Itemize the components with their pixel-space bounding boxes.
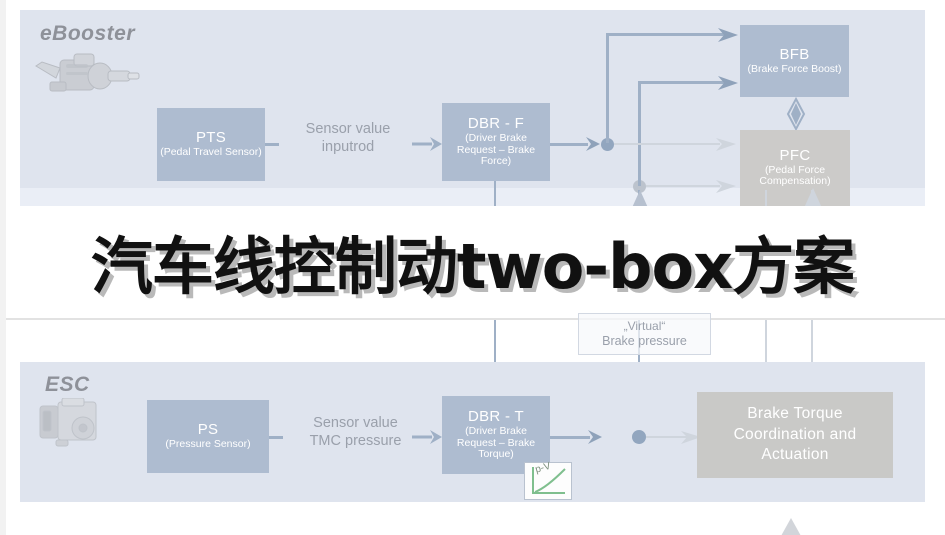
bidirectional-link-bfb-pfc: [786, 99, 806, 131]
slide-canvas: eBooster PTS (Pedal Travel Sensor): [0, 0, 945, 535]
box-dbr-t-title: DBR - T: [468, 409, 524, 426]
arrowhead-into-pfc-upper: [716, 137, 740, 153]
callout-virtual-line1: „Virtual“: [624, 319, 666, 333]
arrowhead-into-bfb-top: [718, 26, 742, 44]
pressure-volume-curve-icon: p-V: [524, 462, 572, 500]
ebooster-actuator-photo: [30, 48, 140, 100]
panel-label-esc: ESC: [45, 373, 90, 397]
arrowhead-into-bfb-second: [718, 74, 742, 92]
box-ps-title: PS: [198, 422, 219, 439]
connector-dbrf-right: [550, 143, 588, 146]
connector-junction-to-pfc-lower: [646, 185, 720, 187]
label-sensor-value-inputrod: Sensor value inputrod: [283, 120, 413, 156]
box-brake-torque-coordination[interactable]: Brake Torque Coordination and Actuation: [697, 392, 893, 478]
label-sensor-value-tmc: Sensor value TMC pressure: [283, 414, 428, 450]
arrow-tmc-to-dbrt: [412, 426, 444, 448]
label-sensor-value-tmc-line2: TMC pressure: [310, 433, 402, 449]
arrowhead-dbrt-junction: [586, 429, 608, 447]
callout-virtual-line2: Brake pressure: [602, 334, 687, 349]
connector-junction-up-horizontal: [606, 33, 724, 36]
box-pts[interactable]: PTS (Pedal Travel Sensor): [157, 108, 265, 181]
box-dbr-f-title: DBR - F: [468, 116, 524, 133]
box-pts-subtitle: (Pedal Travel Sensor): [160, 147, 262, 159]
label-sensor-value-tmc-line1: Sensor value: [313, 415, 398, 431]
label-sensor-value-inputrod-line2: inputrod: [322, 139, 374, 155]
connector-junction-lower-horizontal: [638, 81, 724, 84]
connector-pts-stub: [265, 143, 279, 146]
box-bfb-title: BFB: [779, 47, 809, 64]
box-dbr-f[interactable]: DBR - F (Driver Brake Request – Brake Fo…: [442, 103, 550, 181]
arrowhead-bottom-inbound: [780, 518, 802, 535]
arrowhead-into-pfc-lower: [716, 179, 740, 195]
box-ps[interactable]: PS (Pressure Sensor): [147, 400, 269, 473]
connector-junction-to-pfc-upper: [614, 143, 720, 145]
box-ps-subtitle: (Pressure Sensor): [165, 439, 250, 451]
title-divider-rule: [0, 318, 945, 320]
box-bfb[interactable]: BFB (Brake Force Boost): [740, 25, 849, 97]
box-bfb-subtitle: (Brake Force Boost): [742, 64, 848, 76]
junction-dot-bottom: [632, 430, 646, 444]
panel-label-ebooster: eBooster: [40, 22, 135, 46]
box-dbr-f-subtitle: (Driver Brake Request – Brake Force): [442, 133, 550, 168]
box-dbr-t-subtitle: (Driver Brake Request – Brake Torque): [442, 426, 550, 461]
arrow-inputrod-to-dbrf: [412, 133, 444, 155]
page-title: 汽车线控制动two-box方案: [0, 216, 945, 306]
box-pfc-title: PFC: [780, 148, 811, 165]
slide-left-edge: [0, 0, 6, 535]
connector-dbrt-right: [550, 436, 590, 439]
box-btca-title: Brake Torque Coordination and Actuation: [697, 404, 893, 467]
callout-virtual-brake-pressure: „Virtual“ Brake pressure: [578, 313, 711, 355]
connector-junction-lower-vertical: [638, 81, 641, 186]
box-pfc[interactable]: PFC (Pedal Force Compensation): [740, 130, 850, 206]
box-pts-title: PTS: [196, 130, 226, 147]
connector-junction-up-vertical: [606, 33, 609, 143]
esc-hydraulic-unit-photo: [38, 398, 110, 448]
label-sensor-value-inputrod-line1: Sensor value: [306, 121, 391, 137]
box-pfc-subtitle: (Pedal Force Compensation): [740, 165, 850, 189]
connector-ps-stub: [269, 436, 283, 439]
